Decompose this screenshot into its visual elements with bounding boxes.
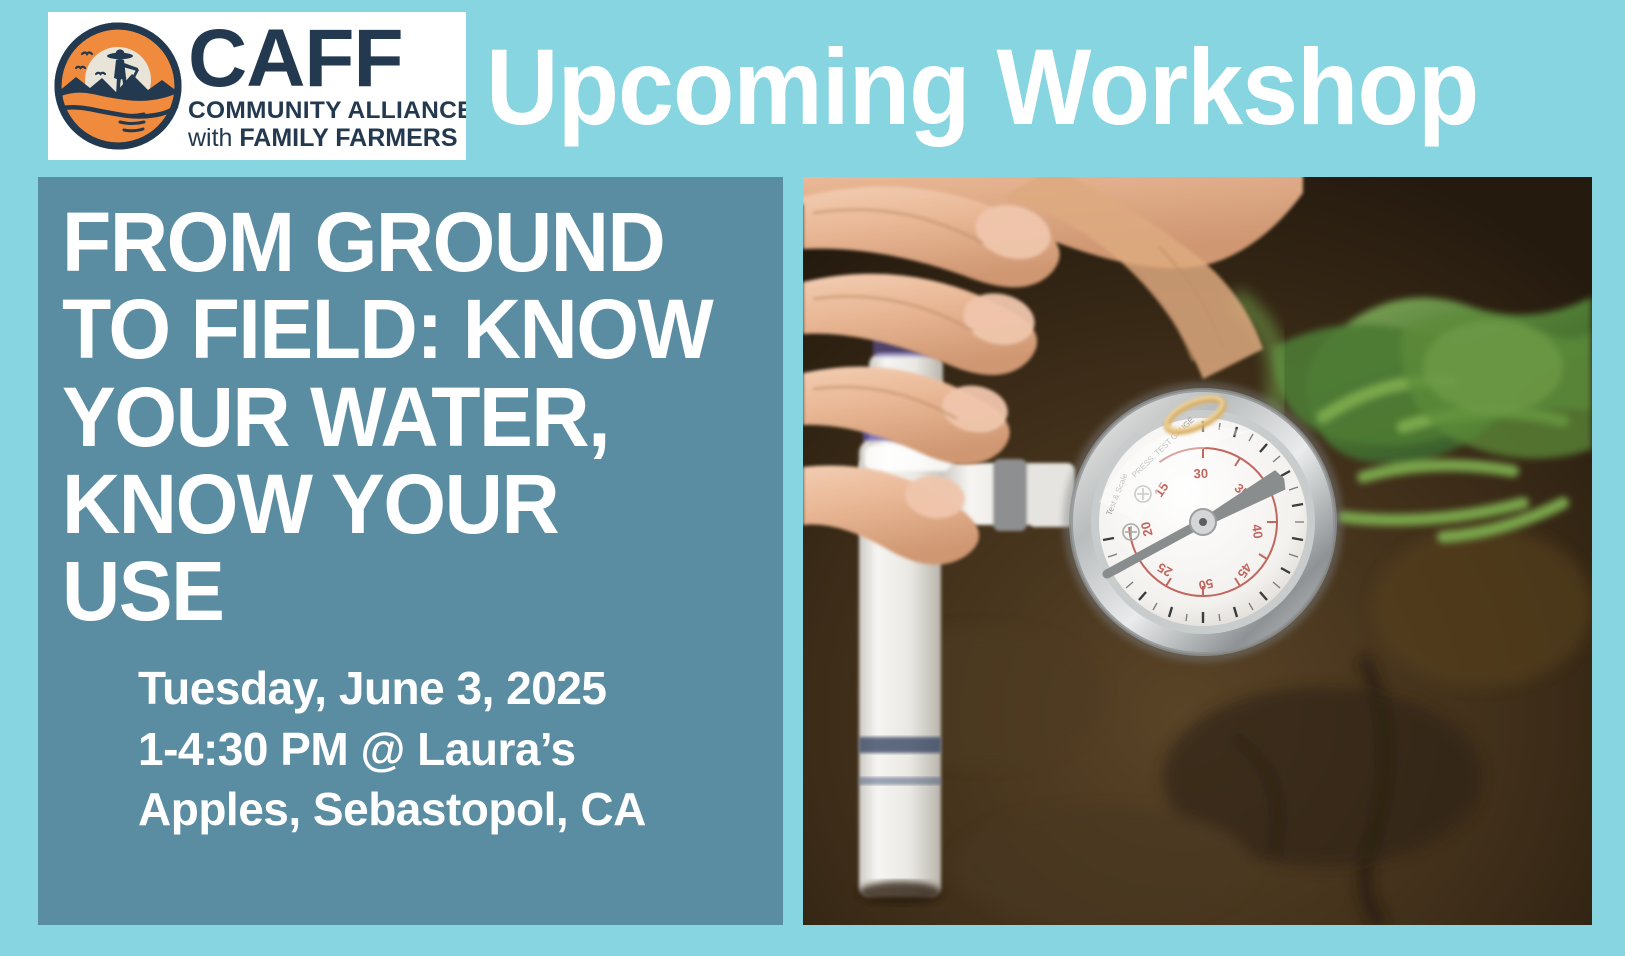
caff-emblem-icon	[54, 22, 182, 150]
workshop-info-panel: FROM GROUND TO FIELD: KNOW YOUR WATER, K…	[38, 177, 783, 925]
caff-tagline-line2: with FAMILY FARMERS	[188, 126, 466, 151]
svg-text:50: 50	[1197, 576, 1214, 594]
workshop-photo: 30 35 40 45 50 25 20 15 Test & Scale PRE…	[803, 177, 1592, 925]
workshop-title: FROM GROUND TO FIELD: KNOW YOUR WATER, K…	[62, 199, 731, 636]
header-title: Upcoming Workshop	[486, 28, 1528, 146]
caff-tagline-with: with	[188, 124, 239, 152]
workshop-location: Apples, Sebastopol, CA	[138, 779, 759, 840]
svg-text:30: 30	[1193, 466, 1208, 481]
pressure-gauge-photo-illustration: 30 35 40 45 50 25 20 15 Test & Scale PRE…	[803, 177, 1592, 925]
workshop-flyer: CAFF COMMUNITY ALLIANCE with FAMILY FARM…	[0, 0, 1625, 956]
workshop-details: Tuesday, June 3, 2025 1-4:30 PM @ Laura’…	[62, 658, 759, 840]
caff-logo-wordmark: CAFF COMMUNITY ALLIANCE with FAMILY FARM…	[188, 21, 466, 152]
caff-tagline-line1: COMMUNITY ALLIANCE	[188, 99, 466, 124]
caff-acronym: CAFF	[188, 21, 466, 96]
caff-logo: CAFF COMMUNITY ALLIANCE with FAMILY FARM…	[48, 12, 466, 160]
caff-tagline-family-farmers: FAMILY FARMERS	[239, 124, 457, 152]
workshop-time-venue: 1-4:30 PM @ Laura’s	[138, 719, 759, 780]
svg-text:40: 40	[1249, 523, 1266, 539]
workshop-date: Tuesday, June 3, 2025	[138, 658, 759, 719]
